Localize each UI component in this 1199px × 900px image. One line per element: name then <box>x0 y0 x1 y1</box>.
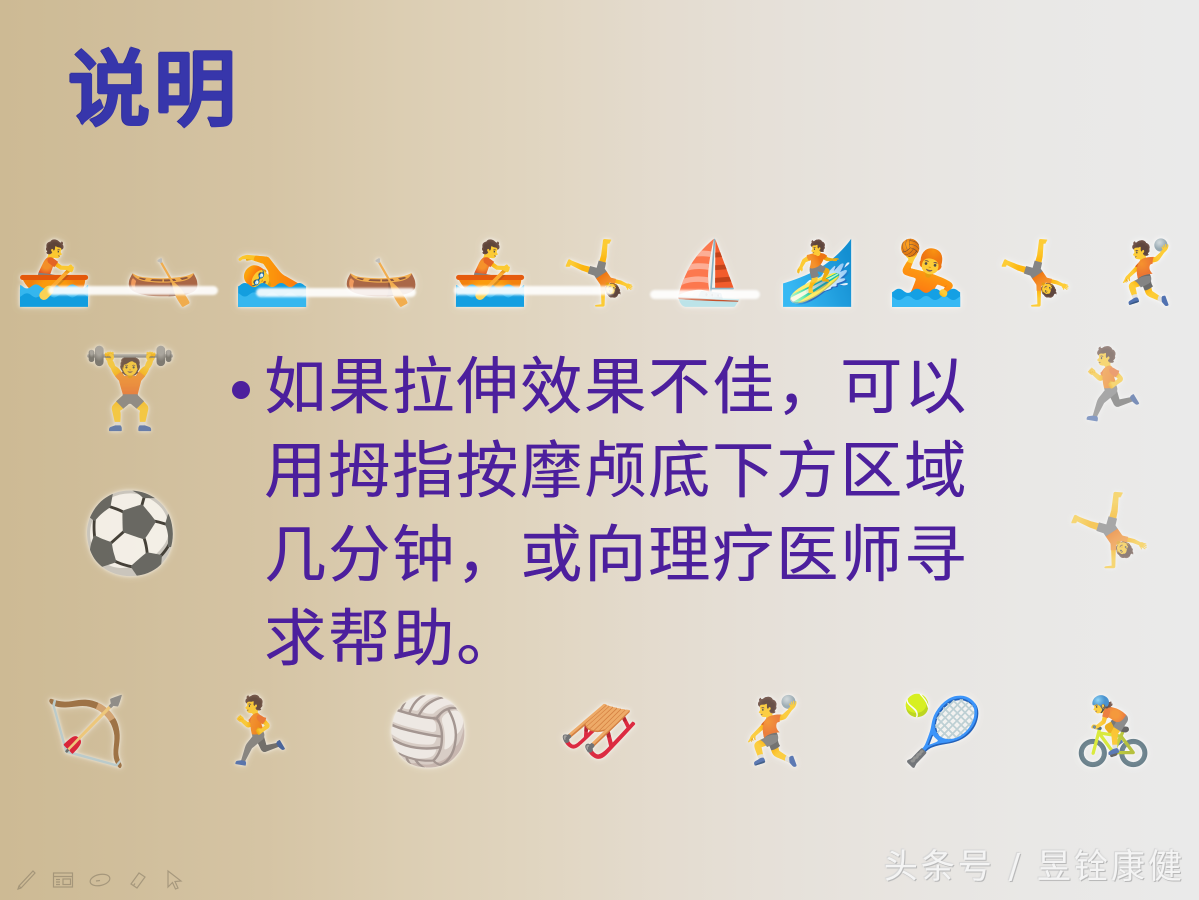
slide-thumbnail-icon[interactable] <box>49 866 77 894</box>
archery-pictogram-icon: 🏹 <box>0 699 171 765</box>
watermark: 头条号 / 昱铨康健 <box>884 839 1185 888</box>
shot-put-pictogram-icon: 🤾 <box>685 699 856 765</box>
page-title: 说明 <box>68 48 240 134</box>
rowing-single-pictogram-icon: 🚣 <box>0 242 109 304</box>
frieze-top: 🚣 🛶 🏊 🛶 🚣 🤸 ⛵ 🏄 🤽 🤸 🤾 <box>0 206 1199 304</box>
bullet-list-item: 如果拉伸效果不佳，可以 用拇指按摩颅底下方区域 几分钟，或向理疗医师寻 求帮助。 <box>232 345 1112 681</box>
frieze-middle-left: 🏋 ⚽ <box>0 350 260 640</box>
pen-icon[interactable] <box>12 866 40 894</box>
soccer-pictogram-icon: ⚽ <box>81 495 178 640</box>
gymnastics-beam-pictogram-icon: 🤾 <box>1090 242 1199 304</box>
canoe-sprint-pictogram-icon: 🛶 <box>327 242 436 304</box>
water-polo-pictogram-icon: 🤽 <box>872 242 981 304</box>
body-paragraph: 如果拉伸效果不佳，可以 用拇指按摩颅底下方区域 几分钟，或向理疗医师寻 求帮助。 <box>264 345 1112 681</box>
chalk-ground-line <box>650 290 760 299</box>
pointer-arrow-icon[interactable] <box>160 866 188 894</box>
bullet-point-icon <box>232 381 250 399</box>
cycling-pictogram-icon: 🚴 <box>1028 699 1199 765</box>
chalk-ground-line <box>256 288 416 297</box>
slideshow-annotation-toolbar[interactable] <box>12 866 188 894</box>
volleyball-pictogram-icon: 🏐 <box>343 699 514 765</box>
diving-pictogram-icon: 🤸 <box>545 242 654 304</box>
hurdles-pictogram-icon: 🏃 <box>171 699 342 765</box>
weightlifting-pictogram-icon: 🏋 <box>81 350 178 495</box>
gymnastics-vault-pictogram-icon: 🤸 <box>981 242 1090 304</box>
kayak-pictogram-icon: 🚣 <box>436 242 545 304</box>
swimming-pictogram-icon: 🏊 <box>218 242 327 304</box>
tennis-pictogram-icon: 🎾 <box>856 699 1027 765</box>
sailing-pictogram-icon: ⛵ <box>654 242 763 304</box>
chalk-ground-line <box>48 286 218 295</box>
chalk-ground-line <box>454 286 614 295</box>
eraser-icon[interactable] <box>123 866 151 894</box>
presentation-slide: 🚣 🛶 🏊 🛶 🚣 🤸 ⛵ 🏄 🤽 🤸 🤾 🏋 ⚽ 🏃 🤸 🏹 🏃 🏐 🛷 🤾 … <box>0 0 1199 900</box>
bobsled-pictogram-icon: 🛷 <box>514 699 685 765</box>
surfing-pictogram-icon: 🏄 <box>763 242 872 304</box>
rowing-team-pictogram-icon: 🛶 <box>109 242 218 304</box>
ellipse-highlighter-icon[interactable] <box>86 866 114 894</box>
slide-body: 如果拉伸效果不佳，可以 用拇指按摩颅底下方区域 几分钟，或向理疗医师寻 求帮助。 <box>232 345 1112 681</box>
